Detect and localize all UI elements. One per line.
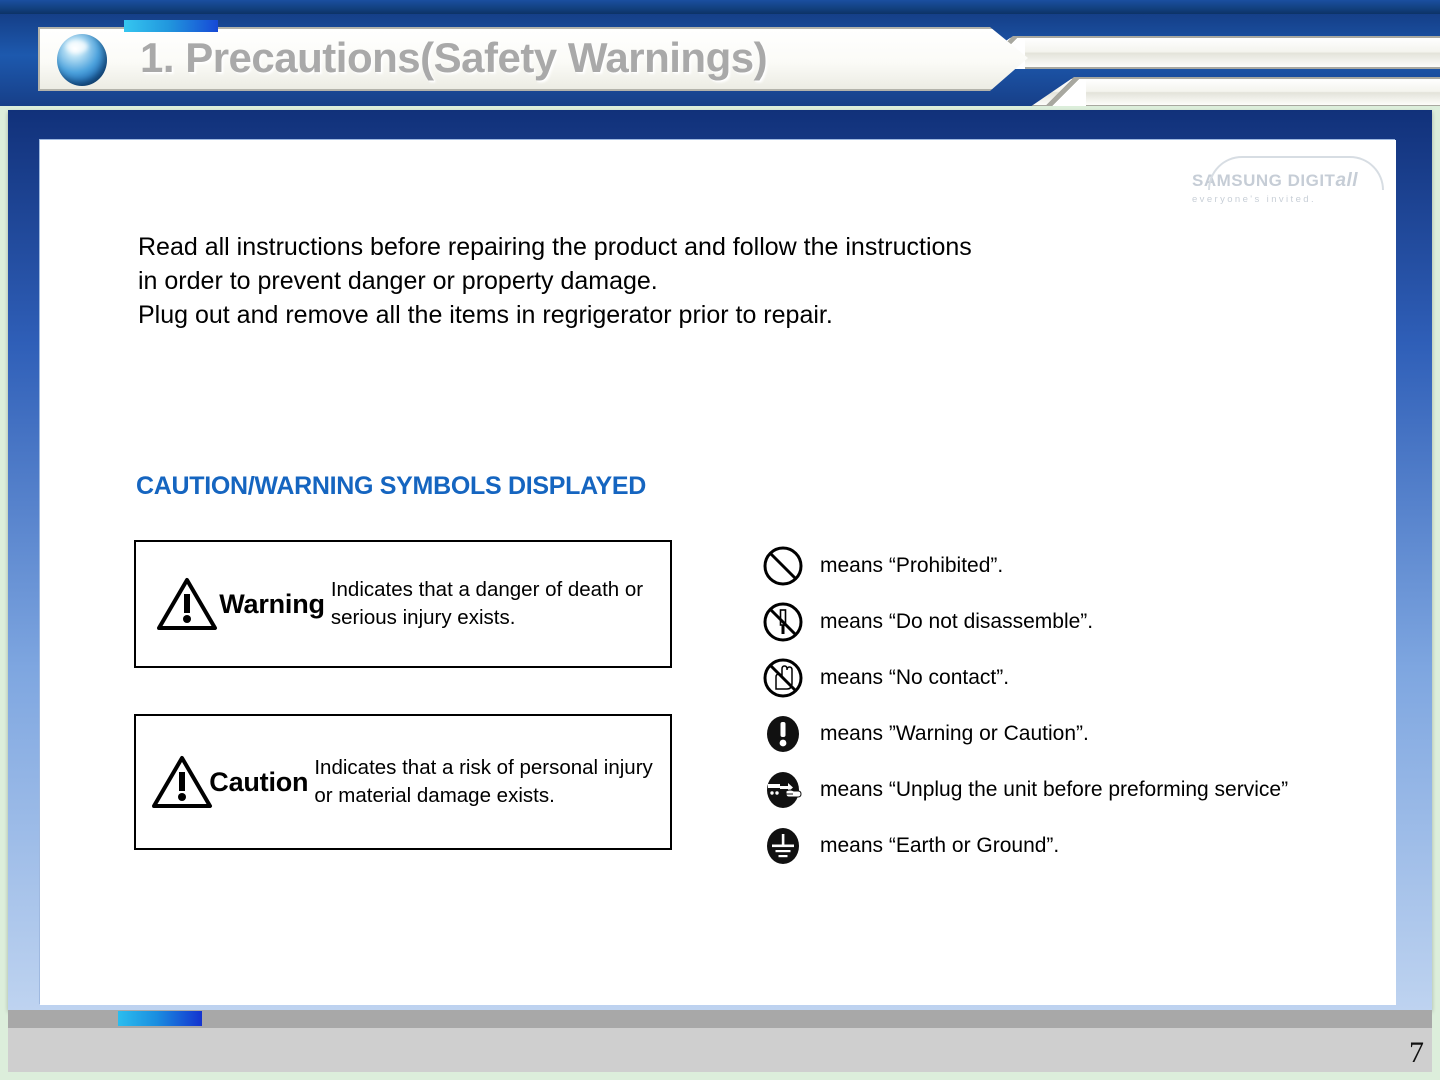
content-area: SAMSUNG DIGITall everyone's invited. Rea… [40,140,1396,1005]
page-title: 1. Precautions(Safety Warnings) [140,34,767,82]
legend-row: means ”Warning or Caution”. [746,706,1406,762]
legend-text: means “No contact”. [820,666,1009,690]
content-frame: SAMSUNG DIGITall everyone's invited. Rea… [8,110,1432,1010]
caution-label: Caution [209,767,308,798]
page-number: 7 [1409,1036,1424,1070]
legend-text: means “Earth or Ground”. [820,834,1059,858]
legend-text: means “Do not disassemble”. [820,610,1093,634]
unplug-icon [746,769,820,811]
no-contact-icon [746,657,820,699]
legend-text: means ”Warning or Caution”. [820,722,1089,746]
intro-paragraph: Read all instructions before repairing t… [138,230,972,332]
samsung-digitall-watermark: SAMSUNG DIGITall everyone's invited. [1192,170,1382,220]
legend-text: means “Unplug the unit before preforming… [820,778,1288,802]
legend-row: means “Earth or Ground”. [746,818,1406,874]
do-not-disassemble-icon [746,601,820,643]
legend-row: means “Unplug the unit before preforming… [746,762,1406,818]
watermark-arc-icon [1208,156,1384,190]
watermark-line-2: everyone's invited. [1192,194,1382,205]
header-accent-bar [124,20,218,32]
caution-description: Indicates that a risk of personal injury… [308,754,670,810]
prohibited-icon [746,545,820,587]
footer-divider-strip [8,1010,1432,1028]
earth-ground-icon [746,825,820,867]
intro-line-1: Read all instructions before repairing t… [138,230,972,264]
header-top-bar [0,0,1440,14]
header-chevron-plate-lower [1030,77,1440,106]
header-chevron-plate-upper [965,36,1440,69]
slide-page: 1. Precautions(Safety Warnings) SAMSUNG … [0,0,1440,1080]
legend-text: means “Prohibited”. [820,554,1003,578]
intro-line-3: Plug out and remove all the items in reg… [138,298,972,332]
footer-accent-bar [118,1011,202,1026]
warning-exclamation-icon [746,713,820,755]
warning-description: Indicates that a danger of death or seri… [325,576,670,632]
blue-sphere-icon [57,34,107,86]
warning-definition-box: Warning Indicates that a danger of death… [134,540,672,668]
caution-definition-box: Caution Indicates that a risk of persona… [134,714,672,850]
footer-area: SAMSUNG ELECTRONICS [8,1028,1432,1072]
legend-row: means “Prohibited”. [746,538,1406,594]
section-heading: CAUTION/WARNING SYMBOLS DISPLAYED [136,472,646,501]
legend-row: means “Do not disassemble”. [746,594,1406,650]
legend-row: means “No contact”. [746,650,1406,706]
intro-line-2: in order to prevent danger or property d… [138,264,972,298]
warning-label: Warning [219,589,325,620]
symbol-legend-list: means “Prohibited”. means “Do not disass… [746,538,1406,874]
